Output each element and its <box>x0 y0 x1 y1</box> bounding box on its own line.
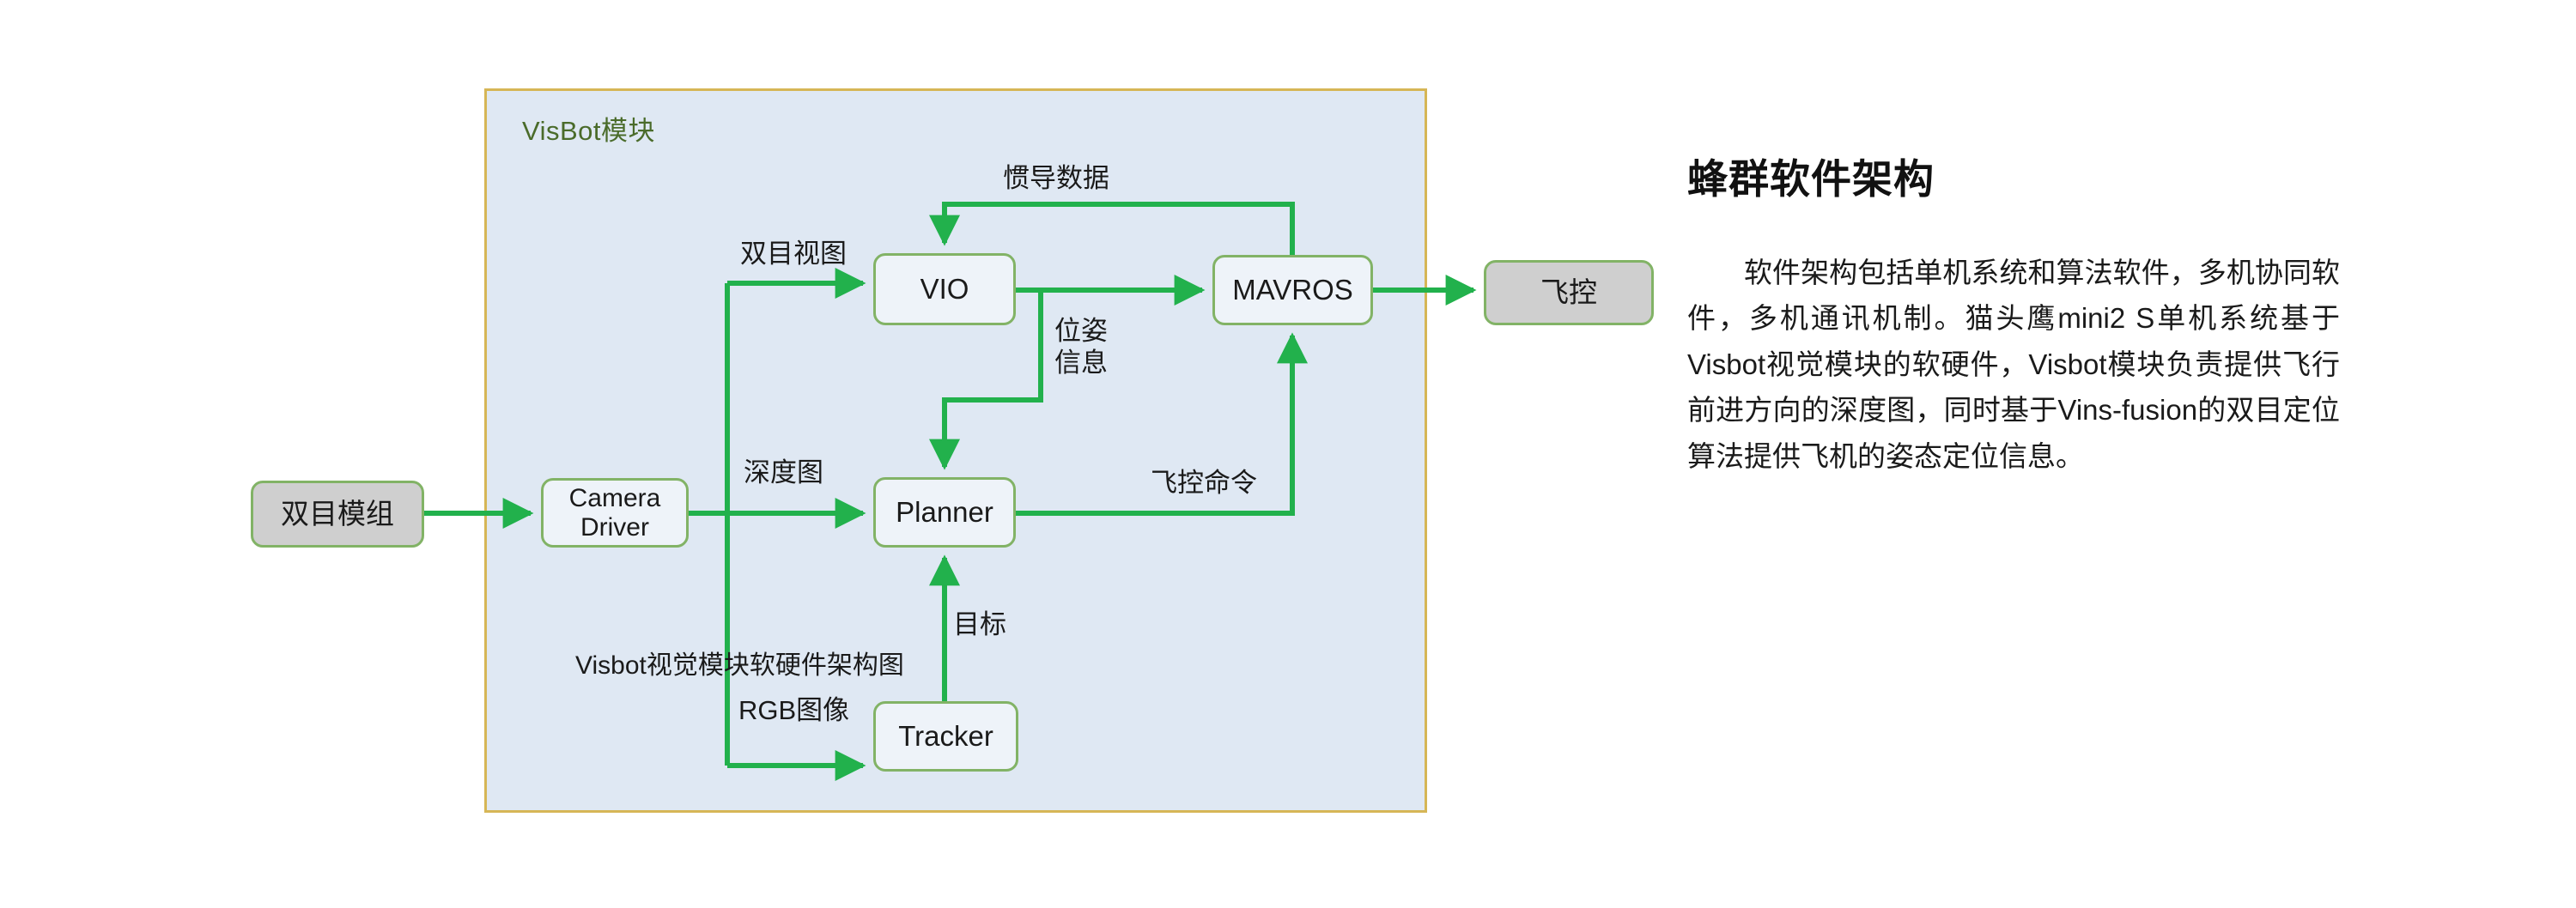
edge-label-pose-info-line1: 位姿 <box>1054 316 1108 348</box>
node-binocular-module[interactable]: 双目模组 <box>251 481 424 548</box>
edge-label-rgb-image: RGB图像 <box>738 695 849 727</box>
edge-label-target: 目标 <box>953 609 1006 641</box>
edge-label-stereo-view: 双目视图 <box>740 239 847 270</box>
diagram-caption: Visbot视觉模块软硬件架构图 <box>575 651 904 681</box>
node-vio[interactable]: VIO <box>873 253 1016 325</box>
description-panel: 蜂群软件架构 软件架构包括单机系统和算法软件，多机协同软件，多机通讯机制。猫头鹰… <box>1687 146 2340 479</box>
node-camera-driver-line2: Driver <box>569 513 661 542</box>
node-planner[interactable]: Planner <box>873 477 1016 548</box>
node-camera-driver-line1: Camera <box>569 484 661 513</box>
node-mavros[interactable]: MAVROS <box>1212 255 1373 325</box>
node-camera-driver[interactable]: Camera Driver <box>541 478 689 548</box>
architecture-diagram: VisBot模块 <box>0 0 1717 908</box>
diagram-edges <box>0 0 1717 908</box>
node-tracker[interactable]: Tracker <box>873 701 1018 772</box>
edge-label-pose-info: 位姿 信息 <box>1054 316 1108 378</box>
edge-label-pose-info-line2: 信息 <box>1054 348 1108 379</box>
edge-label-depth-map: 深度图 <box>744 457 823 489</box>
panel-body-text: 软件架构包括单机系统和算法软件，多机协同软件，多机通讯机制。猫头鹰mini2 S… <box>1687 250 2340 479</box>
node-flight-controller[interactable]: 飞控 <box>1484 260 1654 325</box>
edge-mavros-to-vio <box>945 204 1292 255</box>
edge-label-flight-command: 飞控命令 <box>1151 468 1257 499</box>
slide-root: VisBot模块 <box>0 0 2576 908</box>
edge-label-imu-data: 惯导数据 <box>1003 163 1109 195</box>
panel-title: 蜂群软件架构 <box>1687 146 2340 205</box>
